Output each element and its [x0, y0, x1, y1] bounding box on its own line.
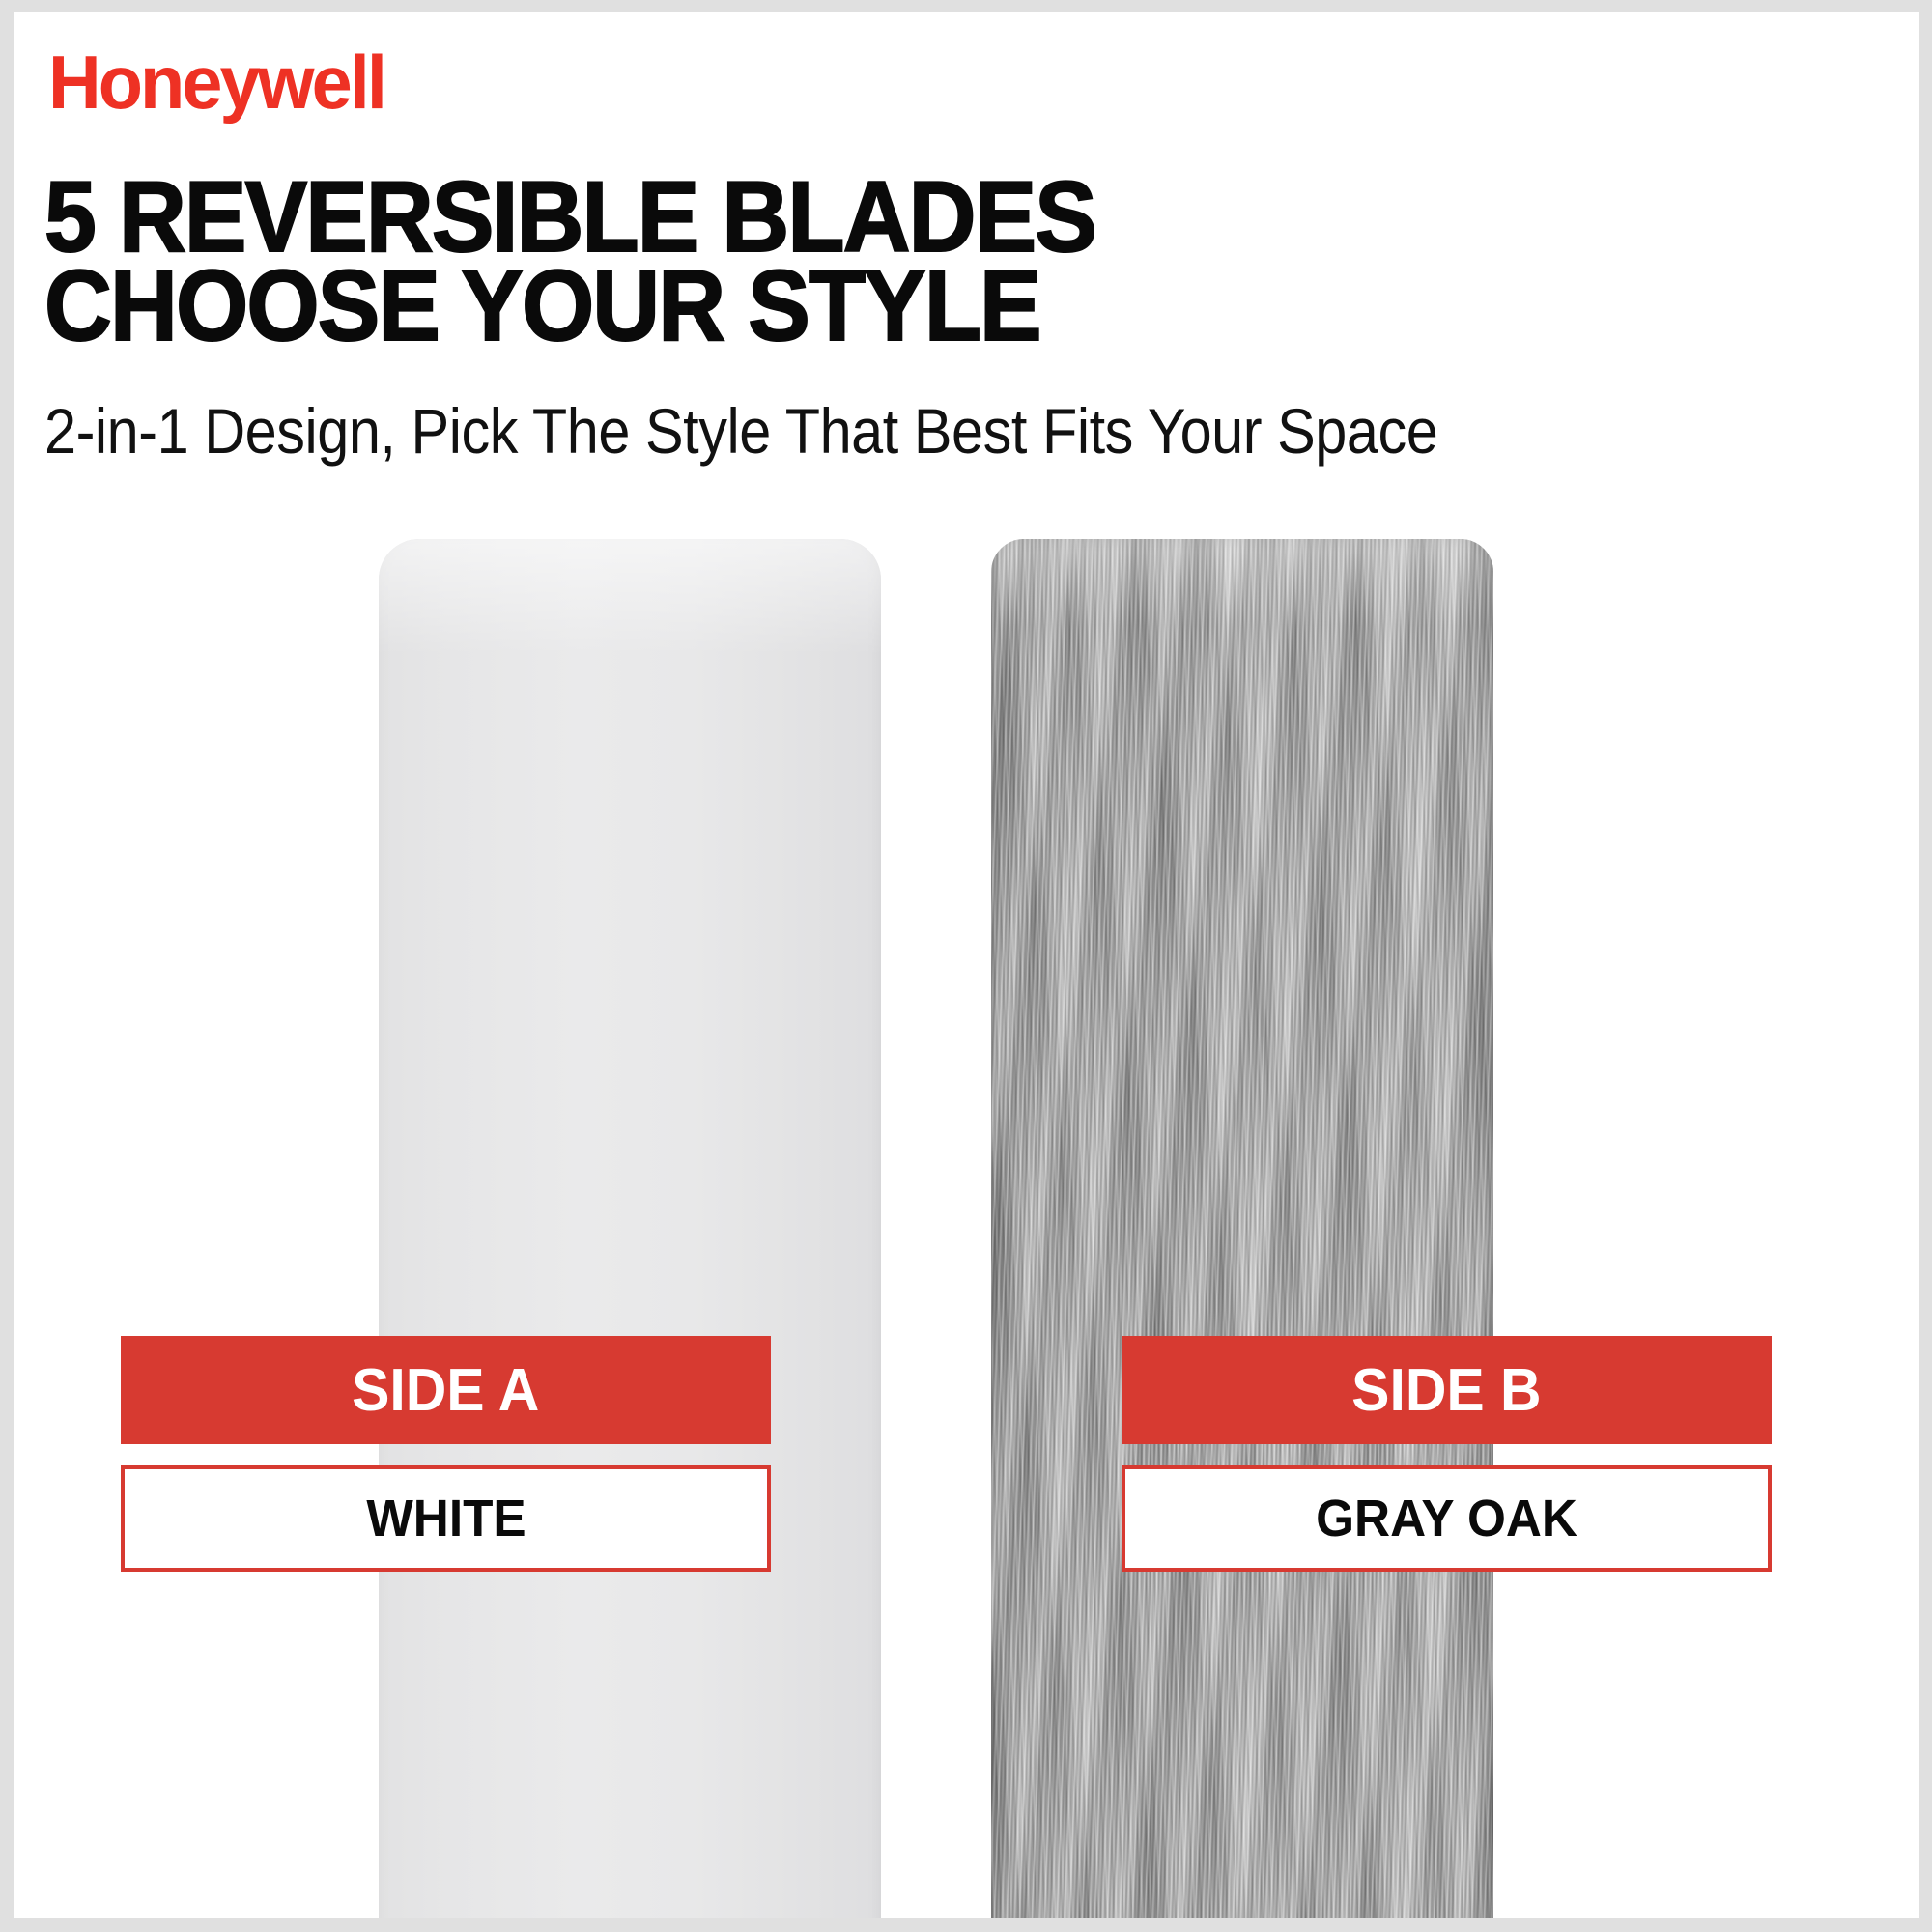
- content-canvas: Honeywell 5 REVERSIBLE BLADES CHOOSE YOU…: [14, 12, 1919, 1918]
- side-a-label: SIDE A: [352, 1356, 539, 1425]
- page-title: 5 REVERSIBLE BLADES CHOOSE YOUR STYLE: [44, 174, 1493, 351]
- side-a-finish-box: WHITE: [121, 1465, 771, 1572]
- white-blade-swatch: [379, 539, 881, 1918]
- side-b-finish-label: GRAY OAK: [1316, 1489, 1577, 1548]
- side-b-label-group: SIDE B GRAY OAK: [1122, 1336, 1772, 1572]
- side-b-finish-box: GRAY OAK: [1122, 1465, 1772, 1572]
- side-a-label-group: SIDE A WHITE: [121, 1336, 771, 1572]
- gray-oak-blade-swatch: [991, 539, 1493, 1918]
- headline-line-2: CHOOSE YOUR STYLE: [44, 263, 1392, 352]
- side-b-banner: SIDE B: [1122, 1336, 1772, 1444]
- side-a-banner: SIDE A: [121, 1336, 771, 1444]
- product-feature-image: Honeywell 5 REVERSIBLE BLADES CHOOSE YOU…: [0, 0, 1932, 1932]
- honeywell-logo: Honeywell: [48, 44, 384, 120]
- side-a-finish-label: WHITE: [366, 1489, 526, 1548]
- subtitle: 2-in-1 Design, Pick The Style That Best …: [44, 394, 1437, 468]
- side-b-label: SIDE B: [1351, 1356, 1541, 1425]
